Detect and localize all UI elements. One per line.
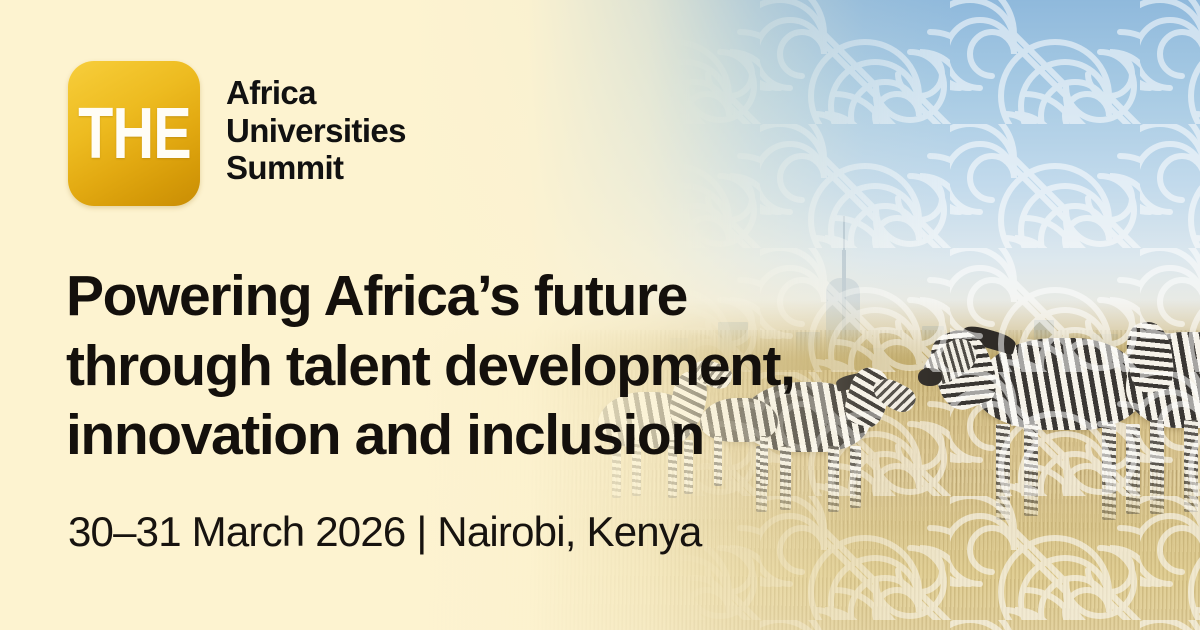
headline: Powering Africa’s future through talent … (66, 262, 795, 471)
event-banner: THE Africa Universities Summit Powering … (0, 0, 1200, 630)
banner-content: THE Africa Universities Summit Powering … (0, 0, 1200, 630)
the-logo-mark[interactable]: THE (68, 61, 200, 206)
summit-logo[interactable]: THE Africa Universities Summit (68, 61, 406, 206)
headline-line-1: Powering Africa’s future (66, 262, 795, 332)
headline-line-3: innovation and inclusion (66, 401, 795, 471)
summit-wordmark: Africa Universities Summit (226, 61, 406, 187)
event-details: 30–31 March 2026 | Nairobi, Kenya (68, 509, 702, 555)
headline-line-2: through talent development, (66, 332, 795, 402)
wordmark-line-2: Universities (226, 112, 406, 150)
the-logo-text: THE (78, 98, 191, 170)
wordmark-line-3: Summit (226, 149, 406, 187)
wordmark-line-1: Africa (226, 74, 406, 112)
